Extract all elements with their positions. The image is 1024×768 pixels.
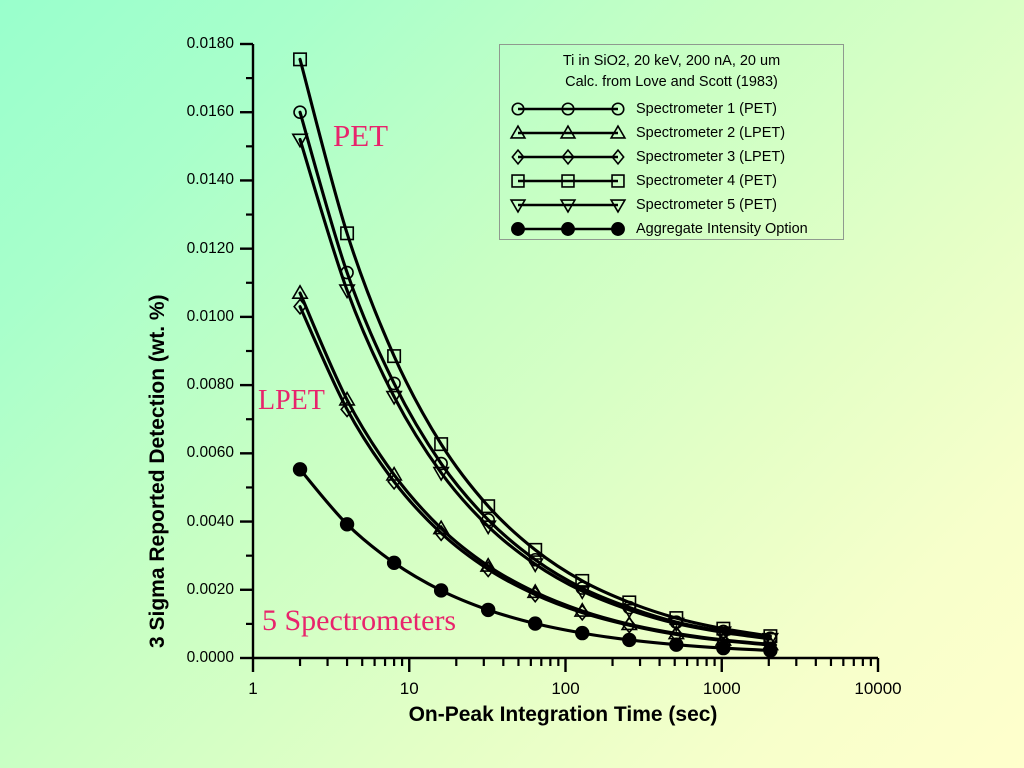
x-tick-label: 1000 [677,680,767,697]
y-tick-label: 0.0140 [148,172,234,188]
x-tick-label: 1 [208,680,298,697]
legend-swatch-circle-filled [508,218,628,240]
legend-item-label: Spectrometer 5 (PET) [628,197,777,213]
legend-item-label: Aggregate Intensity Option [628,221,808,237]
data-point-circle-filled [529,617,542,630]
legend-item[interactable]: Aggregate Intensity Option [508,217,835,241]
data-point-circle-filled [482,604,495,617]
y-tick-label: 0.0020 [148,582,234,598]
data-point-circle-filled [670,638,683,651]
data-point-circle-filled [388,556,401,569]
data-series [294,299,776,652]
legend-swatch-circle-open [508,98,628,120]
y-tick-label: 0.0160 [148,104,234,120]
data-point-circle-filled [717,642,730,655]
legend-item[interactable]: Spectrometer 2 (LPET) [508,121,835,145]
legend-title-line-2: Calc. from Love and Scott (1983) [508,72,835,93]
data-point-circle-filled [623,634,636,647]
y-tick-label: 0.0040 [148,514,234,530]
data-point-circle-filled [612,223,624,235]
legend-item-label: Spectrometer 1 (PET) [628,101,777,117]
legend-item[interactable]: Spectrometer 3 (LPET) [508,145,835,169]
annotation-pet: PET [333,120,388,151]
data-point-circle-filled [294,463,307,476]
legend-item[interactable]: Spectrometer 5 (PET) [508,193,835,217]
y-tick-label: 0.0060 [148,445,234,461]
x-tick-label: 100 [521,680,611,697]
legend-item-label: Spectrometer 4 (PET) [628,173,777,189]
chart-canvas: 3 Sigma Reported Detection (wt. %) On-Pe… [0,0,1024,768]
y-tick-label: 0.0120 [148,241,234,257]
legend-swatch-triangle-down-open [508,194,628,216]
legend-item-label: Spectrometer 2 (LPET) [628,125,785,141]
x-tick-label: 10000 [833,680,923,697]
data-point-circle-filled [512,223,524,235]
legend-item-label: Spectrometer 3 (LPET) [628,149,785,165]
data-point-circle-filled [562,223,574,235]
annotation-five-spectrometers: 5 Spectrometers [262,606,456,636]
data-point-circle-filled [764,644,777,657]
x-tick-label: 10 [364,680,454,697]
annotation-lpet: LPET [258,387,325,415]
data-point-circle-filled [435,584,448,597]
data-point-circle-filled [576,627,589,640]
y-tick-label: 0.0180 [148,36,234,52]
legend-item[interactable]: Spectrometer 4 (PET) [508,169,835,193]
legend-item[interactable]: Spectrometer 1 (PET) [508,97,835,121]
legend-swatch-triangle-up-open [508,122,628,144]
y-tick-label: 0.0080 [148,377,234,393]
legend: Ti in SiO2, 20 keV, 200 nA, 20 um Calc. … [499,44,844,240]
y-tick-label: 0.0000 [148,650,234,666]
y-tick-label: 0.0100 [148,309,234,325]
legend-title-line-1: Ti in SiO2, 20 keV, 200 nA, 20 um [508,51,835,72]
data-point-circle-filled [341,518,354,531]
legend-swatch-square-open [508,170,628,192]
legend-swatch-diamond-open [508,146,628,168]
legend-entries: Spectrometer 1 (PET)Spectrometer 2 (LPET… [508,97,835,241]
